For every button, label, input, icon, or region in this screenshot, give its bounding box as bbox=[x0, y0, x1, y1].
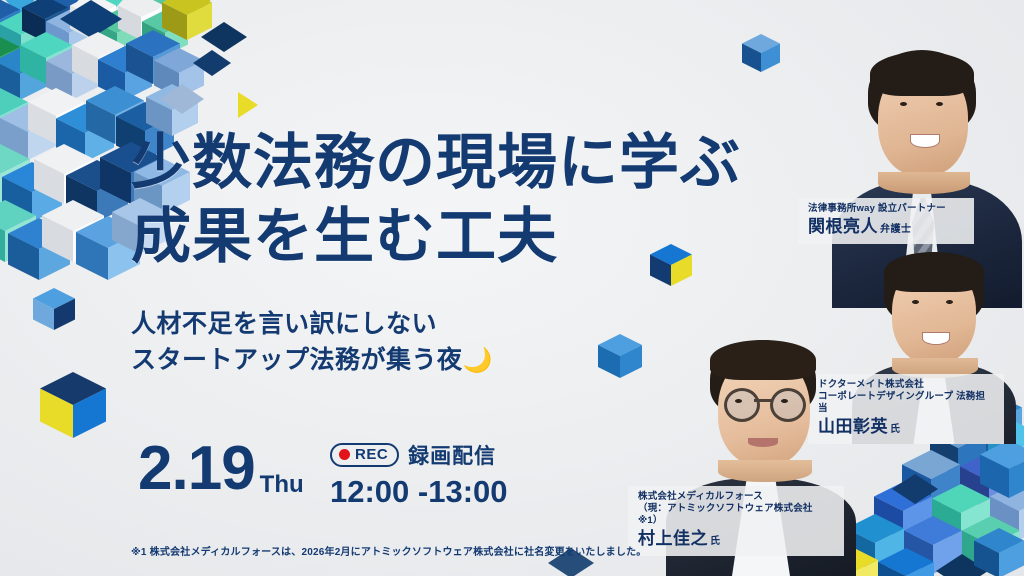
decorative-diamond-navy bbox=[201, 22, 247, 52]
footnote: ※1 株式会社メディカルフォースは、2026年2月にアトミックソフトウェア株式会… bbox=[131, 543, 646, 558]
glasses-bridge bbox=[754, 399, 772, 402]
rec-badge: REC bbox=[330, 443, 399, 467]
speaker-name-1: 関根亮人弁護士 bbox=[808, 216, 964, 238]
date-value: 2.19 bbox=[138, 438, 255, 500]
decorative-diamond-navy-2 bbox=[193, 50, 231, 76]
speaker-name-3: 村上佳之氏 bbox=[638, 528, 834, 550]
time-range: 12:00 -13:00 bbox=[330, 474, 508, 510]
decorative-cube-left-blue bbox=[33, 288, 75, 330]
record-dot-icon bbox=[339, 449, 350, 460]
glasses-left-lens bbox=[724, 388, 760, 422]
page-title: 少数法務の現場に学ぶ 成果を生む工夫 bbox=[131, 126, 831, 274]
decorative-cube-tall-top bbox=[742, 34, 780, 72]
rec-label: REC bbox=[355, 446, 388, 463]
event-delivery-info: REC 録画配信 12:00 -13:00 bbox=[330, 440, 508, 510]
subtitle-text: 人材不足を言い訳にしない スタートアップ法務が集う夜 bbox=[131, 310, 463, 374]
day-of-week: Thu bbox=[260, 470, 304, 500]
decorative-mosaic-right-edge bbox=[976, 470, 1024, 576]
page-subtitle: 人材不足を言い訳にしない スタートアップ法務が集う夜🌙 bbox=[131, 306, 651, 379]
decorative-triangle-yellow bbox=[238, 92, 258, 118]
delivery-label: 録画配信 bbox=[408, 440, 496, 470]
moon-icon: 🌙 bbox=[463, 347, 493, 374]
speaker-org-1: 法律事務所way 設立パートナー bbox=[808, 203, 964, 215]
event-date: 2.19 Thu bbox=[138, 438, 304, 500]
speaker-name-box-3: 株式会社メディカルフォース （現：アトミックソフトウェア株式会社 ※1） 村上佳… bbox=[628, 486, 844, 556]
webinar-banner: 法律事務所way 設立パートナー 関根亮人弁護士 ドクターメイト株式会社 コーポ… bbox=[0, 0, 1024, 576]
speaker-org-3: 株式会社メディカルフォース （現：アトミックソフトウェア株式会社 ※1） bbox=[638, 491, 834, 527]
rec-row: REC 録画配信 bbox=[330, 440, 508, 470]
glasses-right-lens bbox=[770, 388, 806, 422]
